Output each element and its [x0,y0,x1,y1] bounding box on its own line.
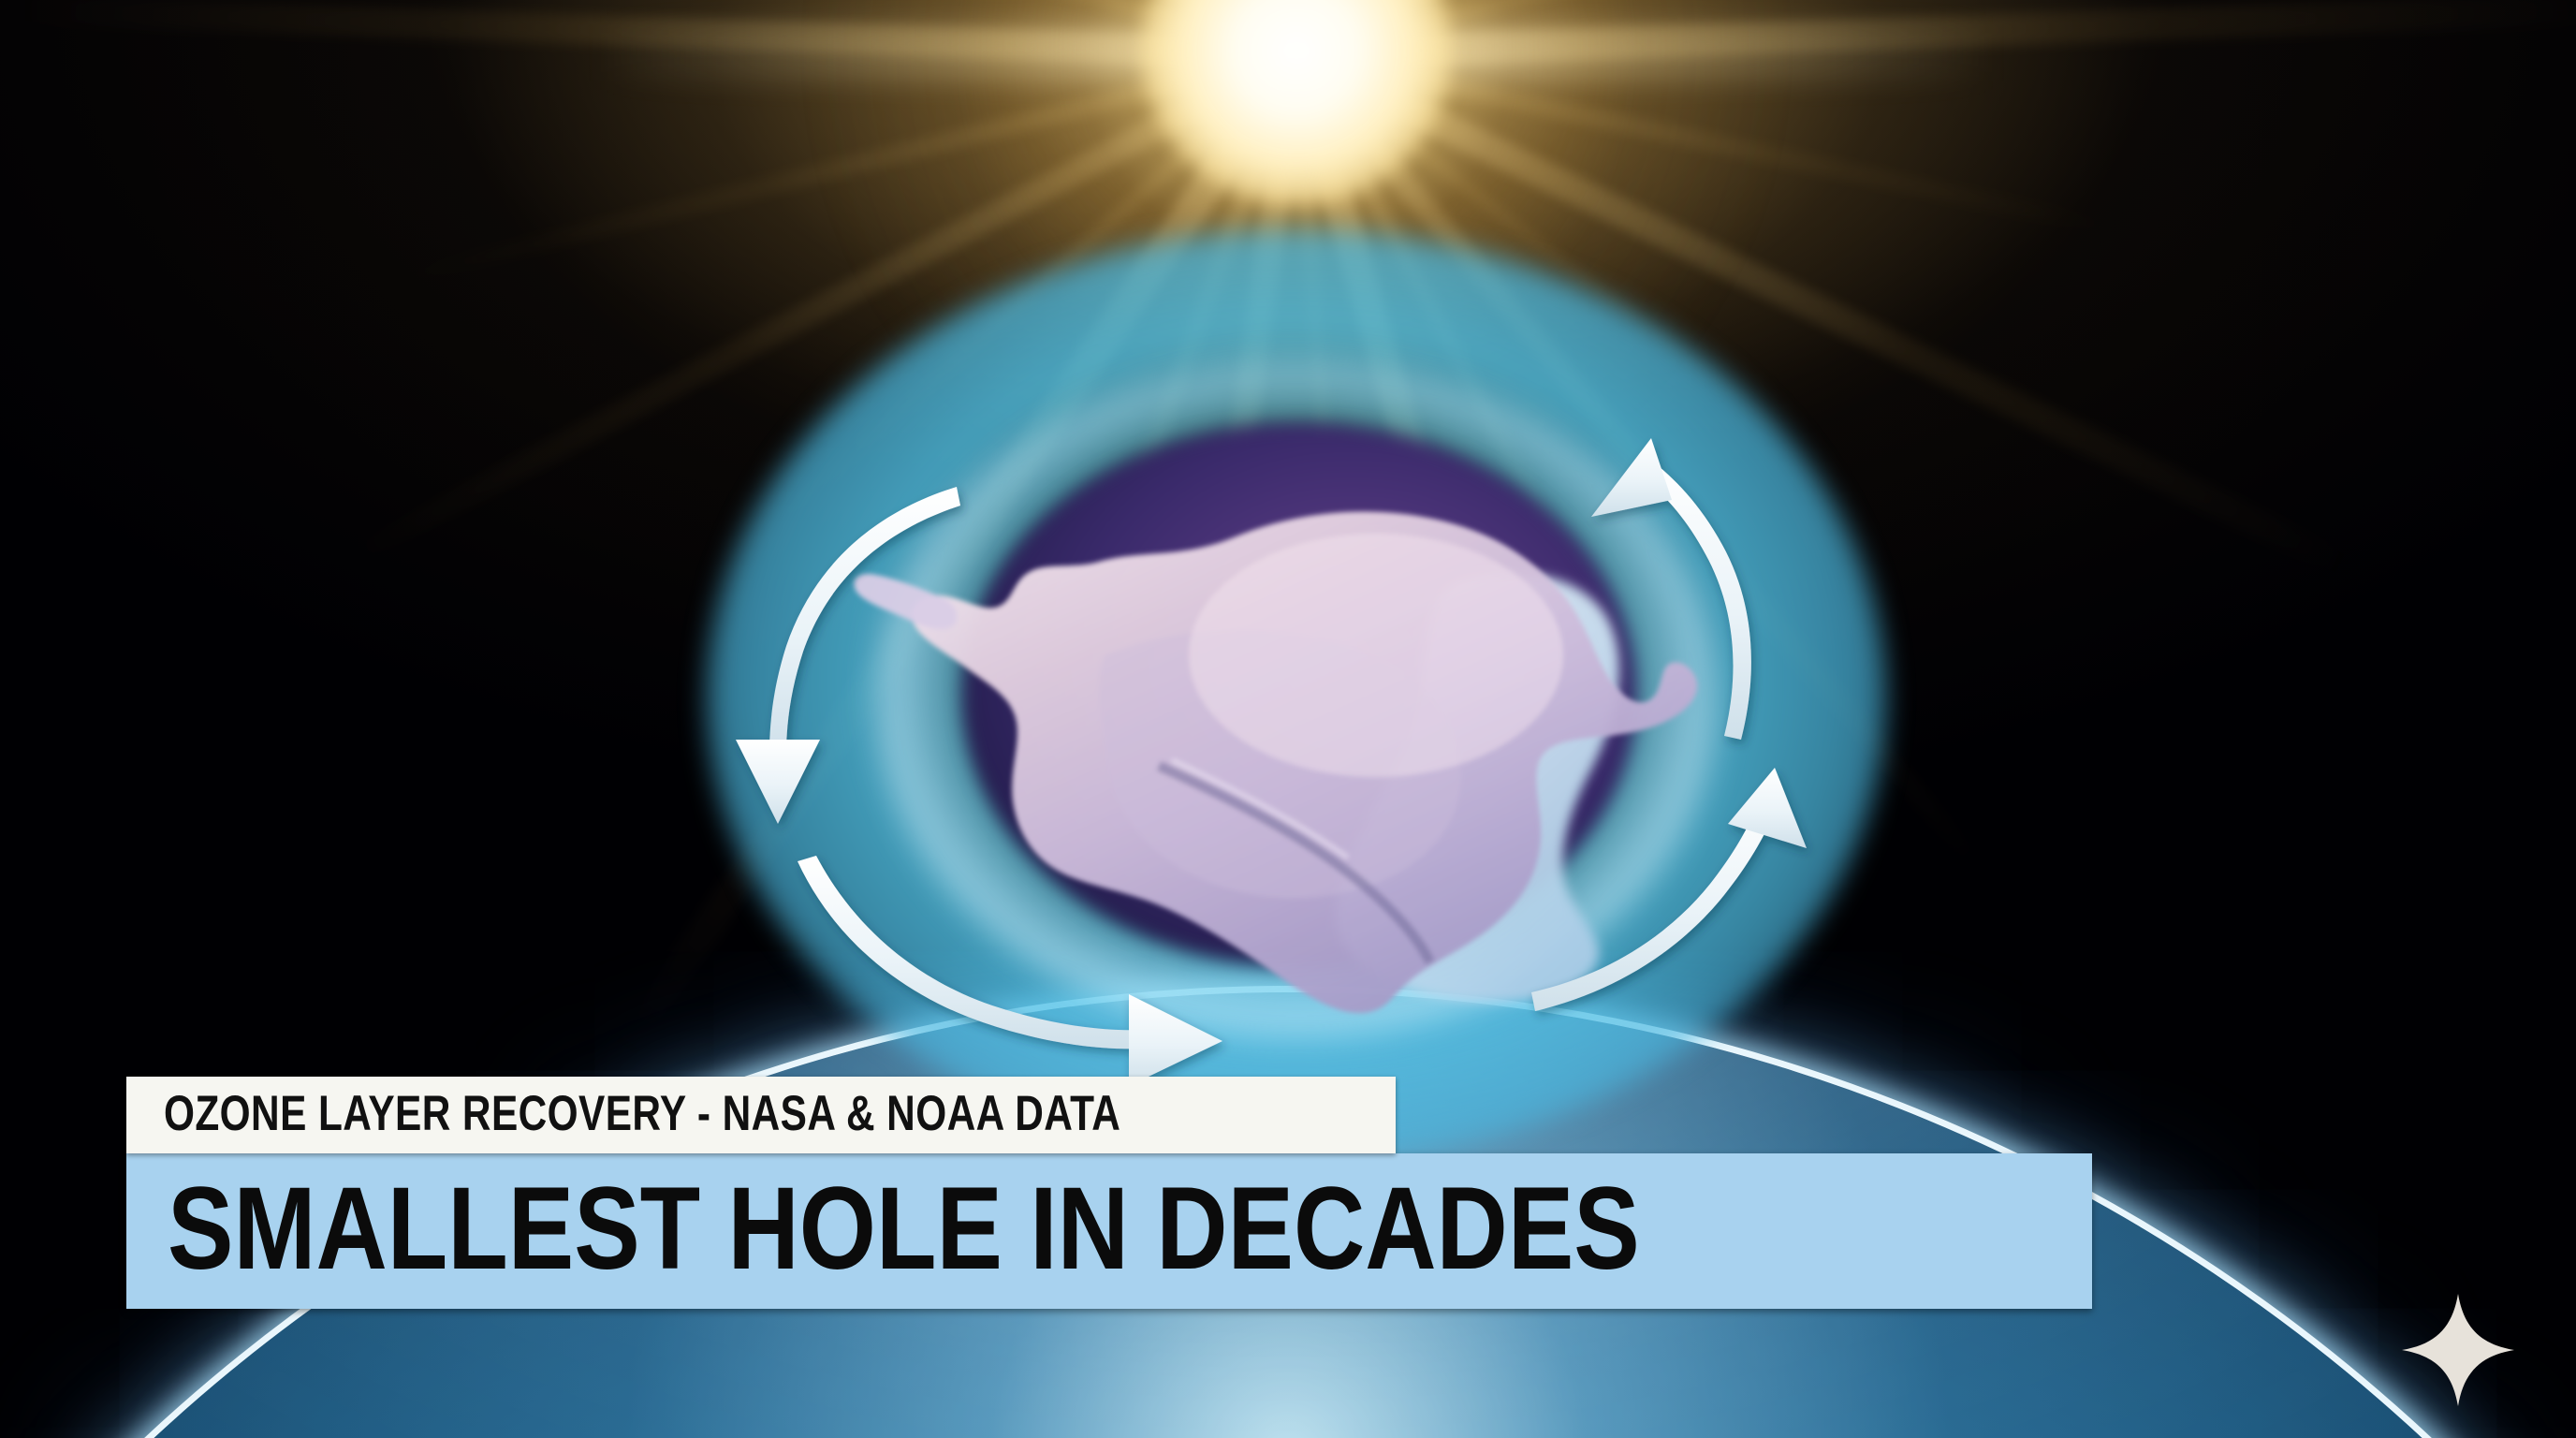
polar-vortex-arrow-left [736,487,960,824]
headline-text: SMALLEST HOLE IN DECADES [168,1170,1757,1288]
kicker-text: OZONE LAYER RECOVERY - NASA & NOAA DATA [164,1088,1120,1140]
screenshot-stage: OZONE LAYER RECOVERY - NASA & NOAA DATA … [0,0,2576,1438]
kicker-bar: OZONE LAYER RECOVERY - NASA & NOAA DATA [126,1077,1396,1153]
sparkle-icon [2398,1290,2518,1410]
polar-vortex-arrow-top-right [1591,438,1751,740]
headline-bar: SMALLEST HOLE IN DECADES [126,1153,2092,1309]
lower-third: OZONE LAYER RECOVERY - NASA & NOAA DATA … [126,1077,2092,1309]
polar-vortex-arrow-right [1531,768,1807,1011]
polar-vortex-arrow-bottom [798,856,1222,1086]
